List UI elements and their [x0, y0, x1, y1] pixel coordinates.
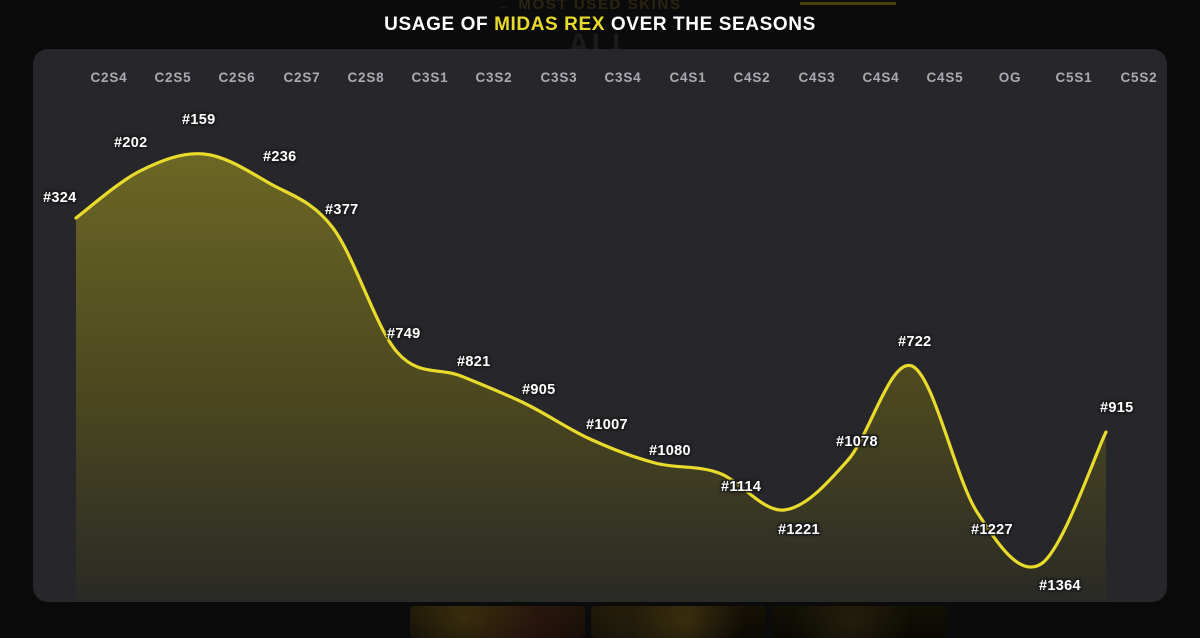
accent-rule: [800, 2, 896, 5]
skin-thumbnail: [772, 606, 947, 638]
season-tick-c5s1[interactable]: C5S1: [1056, 70, 1093, 85]
season-tick-c4s2[interactable]: C4S2: [734, 70, 771, 85]
usage-area-fill: [76, 154, 1106, 602]
season-tick-c4s5[interactable]: C4S5: [927, 70, 964, 85]
season-tick-c3s4[interactable]: C3S4: [605, 70, 642, 85]
season-tick-c2s5[interactable]: C2S5: [155, 70, 192, 85]
chart-card: C2S4C2S5C2S6C2S7C2S8C3S1C3S2C3S3C3S4C4S1…: [33, 49, 1167, 602]
season-tick-c2s6[interactable]: C2S6: [219, 70, 256, 85]
skin-thumbnail: [410, 606, 585, 638]
page-title-prefix: USAGE OF: [384, 14, 494, 35]
season-axis: C2S4C2S5C2S6C2S7C2S8C3S1C3S2C3S3C3S4C4S1…: [33, 70, 1167, 96]
season-tick-c2s4[interactable]: C2S4: [91, 70, 128, 85]
season-tick-c2s8[interactable]: C2S8: [348, 70, 385, 85]
season-tick-c3s1[interactable]: C3S1: [412, 70, 449, 85]
season-tick-c3s3[interactable]: C3S3: [541, 70, 578, 85]
season-tick-c5s2[interactable]: C5S2: [1121, 70, 1158, 85]
usage-line-chart: [33, 49, 1167, 602]
season-tick-og[interactable]: OG: [999, 70, 1022, 85]
page-title: USAGE OF MIDAS REX OVER THE SEASONS: [0, 14, 1200, 36]
page-title-accent: MIDAS REX: [494, 14, 605, 35]
season-tick-c2s7[interactable]: C2S7: [284, 70, 321, 85]
skin-thumbnail: [591, 606, 766, 638]
season-tick-c4s3[interactable]: C4S3: [799, 70, 836, 85]
season-tick-c4s4[interactable]: C4S4: [863, 70, 900, 85]
skin-thumbnail-strip: [0, 606, 1200, 638]
page-title-suffix: OVER THE SEASONS: [605, 14, 816, 35]
ghost-page-heading: MOST USED SKINS: [0, 0, 1200, 13]
season-tick-c4s1[interactable]: C4S1: [670, 70, 707, 85]
season-tick-c3s2[interactable]: C3S2: [476, 70, 513, 85]
